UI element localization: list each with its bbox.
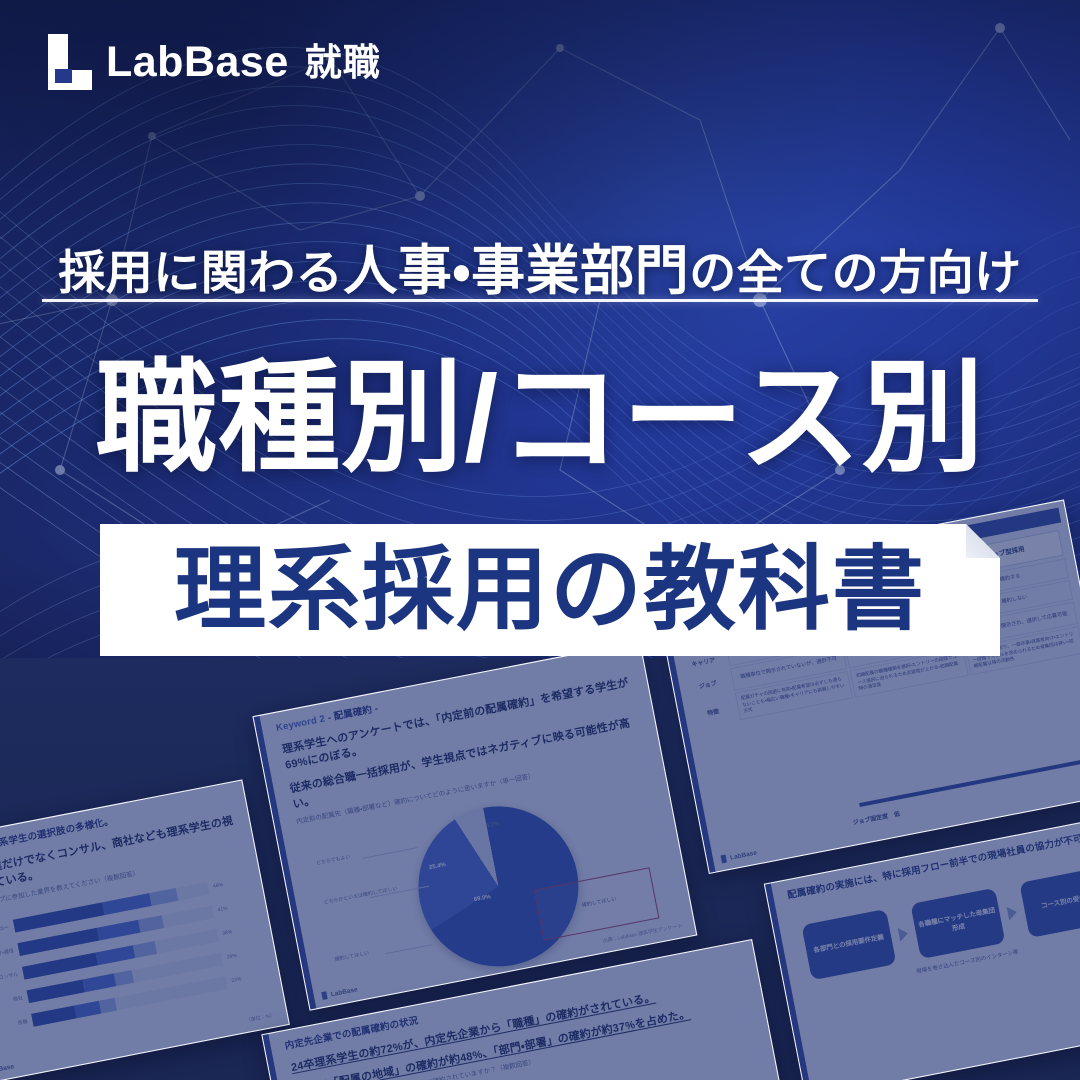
bar-value: 38% [222, 926, 249, 937]
hero-title-plate: 理系採用の教科書 [100, 524, 1000, 656]
bar-label: メーカー [0, 923, 10, 936]
slide-footer-brand: LabBase [0, 1062, 15, 1077]
hero-subtitle-prefix: 採用に関わる [58, 246, 343, 299]
pie-legend-main: 確約してほしい [334, 950, 370, 964]
slide-keyword: Keyword 2 [275, 714, 326, 734]
slide-keyword-tag: - 配属確約 - [327, 703, 379, 724]
horizontal-bar-chart: メーカー 46% IT・通信 41% コンサル [0, 874, 259, 1036]
bar-label: 金融 [0, 1017, 28, 1030]
table-axis-bar [859, 757, 1080, 807]
hero-subtitle-emphasis: 人事・事業部門 [343, 241, 689, 301]
hero-subtitle: 採用に関わる人事・事業部門の全ての方向け [0, 226, 1080, 305]
labbase-l-mark-icon [48, 34, 92, 90]
arrow-right-icon [1007, 905, 1019, 920]
brand-wordmark: LabBase [106, 41, 289, 84]
hero-divider-rule [42, 299, 1038, 302]
footer-brand-text: LabBase [0, 1063, 15, 1075]
flow-step: コース別の受け皿 [1019, 866, 1080, 937]
flow-step: 各部門との採用要件定義 [801, 909, 896, 980]
slide-preview-pie-chart[interactable]: Keyword 2 - 配属確約 - 理系学生へのアンケートでは、「内定前の配属… [252, 641, 697, 1011]
slide-footer-brand: LabBase [721, 849, 758, 864]
brand-service-name: 就職 [305, 44, 381, 81]
bar-value: 29% [226, 950, 253, 961]
bar-label: 商社 [0, 994, 23, 1007]
bar-value: 41% [217, 903, 244, 914]
chart-axis-note: （単位：%） [245, 1012, 275, 1024]
bar-label: コンサル [0, 970, 19, 983]
flow-step: 各職種にマッチした母集団形成 [910, 888, 1005, 959]
arrow-right-icon [898, 926, 910, 941]
pie-legend-second: どちらかといえば確約してほしい [323, 885, 398, 906]
labbase-mark-icon [321, 991, 327, 1000]
bar-label: IT・通信 [0, 947, 14, 960]
brand-lockup: LabBase 就職 [48, 34, 381, 90]
hero-headline: 職種別/コース別 [0, 354, 1080, 483]
bar-value: 22% [231, 973, 258, 984]
pie-callout-label: 確約してほしい [581, 895, 617, 909]
plate-title-text: 理系採用の教科書 [100, 524, 1000, 656]
labbase-mark-icon [721, 855, 727, 864]
table-axis-label: ジョブ固定度 低 [852, 809, 901, 827]
hero-subtitle-suffix: の全ての方向け [689, 246, 1022, 299]
pie-legend-third: どちらでもよい [316, 854, 352, 868]
poster-canvas: LabBase 就職 採用に関わる人事・事業部門の全ての方向け 職種別/コース別… [0, 0, 1080, 1080]
footer-brand-text: LabBase [729, 849, 757, 861]
slide-preview-bar-chart[interactable]: 就職離れ：理系学生の選択肢の多様化。 ー、IT企業だけでなくコンサル、商社なども… [0, 779, 290, 1080]
bar-value: 46% [213, 879, 240, 890]
